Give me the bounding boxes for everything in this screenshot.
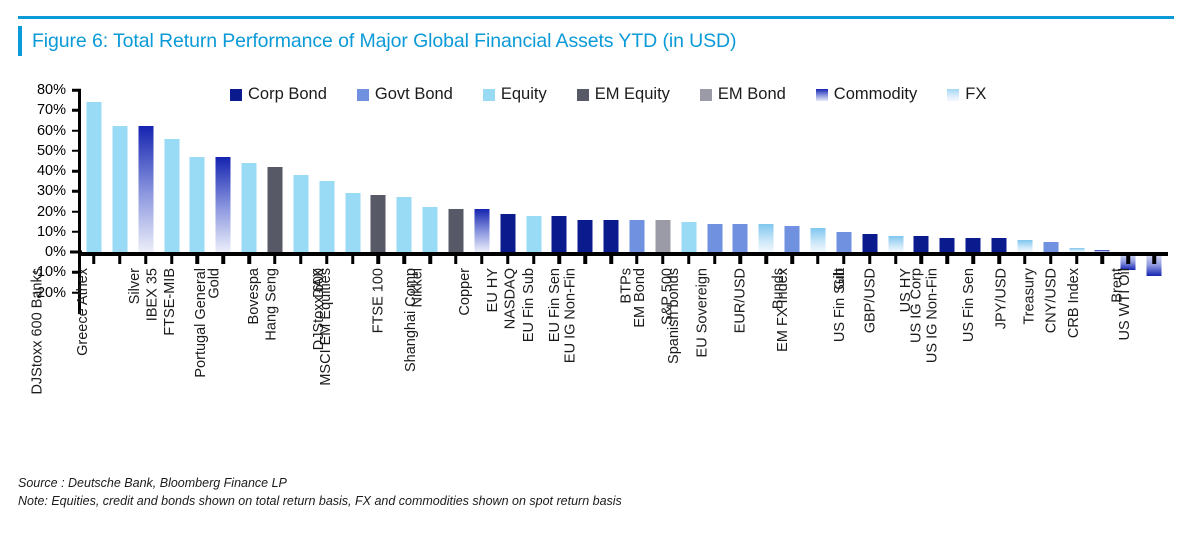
x-axis-tick-mark [170, 256, 174, 264]
x-axis-tick-mark [687, 256, 691, 264]
bar-ftse-100 [397, 197, 412, 252]
x-axis-tick-mark [713, 256, 717, 264]
legend-swatch-icon [816, 89, 828, 101]
title-accent-bar [18, 26, 22, 56]
legend-item-label: Govt Bond [375, 85, 453, 104]
x-axis-tick-mark [273, 256, 277, 264]
x-axis-category-label: IBEX 35 [145, 268, 160, 321]
legend-item-em-equity: EM Equity [577, 85, 670, 104]
legend-item-label: Commodity [834, 85, 917, 104]
x-label-slot: DJStoxx 600 [340, 268, 366, 448]
bar-eu-hy [500, 214, 515, 252]
y-axis-tick-label: 50% [37, 143, 66, 159]
x-axis-category-label: Shanghai Comp [404, 268, 419, 372]
x-axis-category-label: EM Bond [633, 268, 648, 328]
x-axis-tick-mark [532, 256, 536, 264]
x-axis-category-label: FTSE 100 [372, 268, 387, 333]
x-axis-category-label: Portugal General [194, 268, 209, 378]
bar-us-fin-sen [992, 238, 1007, 252]
x-axis-tick-mark [920, 256, 924, 264]
chart-footnotes: Source : Deutsche Bank, Bloomberg Financ… [18, 474, 1174, 510]
y-axis-tick-label: 20% [37, 204, 66, 220]
x-axis-tick-mark [790, 256, 794, 264]
x-label-slot: Gold [210, 268, 236, 448]
bar-eu-sovereign [733, 224, 748, 252]
x-axis-tick-mark [739, 256, 743, 264]
bar-us-hy [914, 236, 929, 252]
bar-nikkei [423, 207, 438, 252]
bar-gbp-usd [888, 236, 903, 252]
chart-plot-area: Corp BondGovt BondEquityEM EquityEM Bond… [18, 78, 1174, 458]
x-axis-category-label: EM FX Index [776, 268, 791, 352]
x-axis-category-label: Gold [208, 268, 223, 299]
x-axis-category-label: EU Sovereign [696, 268, 711, 357]
bar-bunds [785, 226, 800, 252]
y-axis-tick-label: 80% [37, 82, 66, 98]
x-axis-tick-mark [765, 256, 769, 264]
legend-item-commodity: Commodity [816, 85, 917, 104]
legend-swatch-icon [700, 89, 712, 101]
y-axis-tick-label: 60% [37, 123, 66, 139]
x-axis-category-label: NASDAQ [503, 268, 518, 329]
x-label-slot: US WTI Oil [1141, 268, 1167, 448]
x-axis-tick-mark [1101, 256, 1105, 264]
bar-eu-fin-sen [578, 220, 593, 252]
x-axis-zero-line [78, 252, 1168, 256]
x-axis-tick-mark [299, 256, 303, 264]
x-axis-tick-mark [402, 256, 406, 264]
legend-item-corp-bond: Corp Bond [230, 85, 327, 104]
x-axis-labels: DJStoxx 600 BanksGreece AthexSilverIBEX … [81, 268, 1167, 448]
bar-hang-seng [293, 175, 308, 252]
bar-us-ig-non-fin [966, 238, 981, 252]
bar-em-fx-index [810, 228, 825, 252]
x-axis-category-label: Silver [128, 268, 143, 304]
x-axis-tick-mark [584, 256, 588, 264]
x-axis-tick-mark [92, 256, 96, 264]
page-title: Figure 6: Total Return Performance of Ma… [32, 30, 736, 53]
x-axis-category-label: DJStoxx 600 Banks [31, 268, 46, 395]
y-axis-tick-label: 40% [37, 163, 66, 179]
x-axis-category-label: US Fin Sen [962, 268, 977, 342]
y-axis-tick-label: 0% [45, 244, 66, 260]
x-axis-category-label: CNY/USD [1044, 268, 1059, 333]
x-axis-category-label: Treasury [1022, 268, 1037, 325]
bar-djstoxx-600 [345, 193, 360, 252]
x-axis-category-label: Greece Athex [76, 268, 91, 356]
bar-jpy-usd [1017, 240, 1032, 252]
x-axis-category-label: FTSE-MIB [164, 268, 179, 336]
x-axis-tick-mark [1127, 256, 1131, 264]
x-axis-tick-mark [506, 256, 510, 264]
x-axis-tick-mark [377, 256, 381, 264]
bar-dax [319, 181, 334, 252]
legend-item-label: EM Equity [595, 85, 670, 104]
bar-gilt [836, 232, 851, 252]
x-axis-tick-mark [1152, 256, 1156, 264]
x-axis-tick-mark [842, 256, 846, 264]
bar-djstoxx-600-banks [86, 102, 101, 252]
legend-swatch-icon [230, 89, 242, 101]
x-axis-category-label: EU Fin Sub [522, 268, 537, 342]
bar-gold [216, 157, 231, 252]
bar-shanghai-comp [448, 209, 463, 252]
bar-nasdaq [526, 216, 541, 252]
x-axis-tick-mark [558, 256, 562, 264]
bar-ibex-35 [164, 139, 179, 252]
x-axis-category-label: MSCI EM Equities [320, 268, 335, 386]
x-axis-tick-mark [247, 256, 251, 264]
bar-s-p-500 [681, 222, 696, 252]
x-axis-tick-mark [894, 256, 898, 264]
x-axis-category-label: US IG Corp [910, 268, 925, 343]
x-axis-tick-mark [635, 256, 639, 264]
legend-item-em-bond: EM Bond [700, 85, 786, 104]
bar-copper [474, 209, 489, 252]
x-axis-tick-mark [221, 256, 225, 264]
x-axis-tick-mark [868, 256, 872, 264]
legend-swatch-icon [947, 89, 959, 101]
chart-legend: Corp BondGovt BondEquityEM EquityEM Bond… [230, 85, 986, 104]
x-axis-tick-mark [480, 256, 484, 264]
bar-eu-fin-sub [552, 216, 567, 252]
x-axis-category-label: EU HY [486, 268, 501, 312]
y-axis-tick-label: 10% [37, 224, 66, 240]
legend-item-fx: FX [947, 85, 986, 104]
x-axis-tick-mark [428, 256, 432, 264]
x-axis-category-label: EU Fin Sen [548, 268, 563, 342]
bar-btps [629, 220, 644, 252]
x-axis-category-label: Copper [458, 268, 473, 316]
bar-ftse-mib [190, 157, 205, 252]
bar-silver [138, 126, 153, 252]
x-axis-tick-mark [1075, 256, 1079, 264]
x-axis-category-label: EUR/USD [734, 268, 749, 333]
x-axis-tick-mark [946, 256, 950, 264]
x-axis-category-label: EU IG Non-Fin [564, 268, 579, 363]
legend-item-label: EM Bond [718, 85, 786, 104]
x-axis-tick-mark [661, 256, 665, 264]
y-axis-tick-label: 70% [37, 102, 66, 118]
title-top-rule [18, 16, 1174, 19]
bar-eu-ig-non-fin [604, 220, 619, 252]
x-axis-category-label: US WTI Oil [1118, 268, 1133, 341]
bar-us-fin-sub [862, 234, 877, 252]
legend-item-label: Equity [501, 85, 547, 104]
x-axis-category-label: GBP/USD [863, 268, 878, 333]
legend-swatch-icon [483, 89, 495, 101]
x-axis-tick-mark [325, 256, 329, 264]
x-axis-tick-mark [816, 256, 820, 264]
bar-em-bond [655, 220, 670, 252]
x-axis-tick-mark [196, 256, 200, 264]
legend-swatch-icon [357, 89, 369, 101]
x-axis-tick-mark [1049, 256, 1053, 264]
legend-item-label: FX [965, 85, 986, 104]
source-note: Source : Deutsche Bank, Bloomberg Financ… [18, 474, 1174, 492]
x-axis-category-label: CRB Index [1067, 268, 1082, 338]
bar-greece-athex [112, 126, 127, 252]
y-axis-labels: 80%70%60%50%40%30%20%10%0%-10%-20% [18, 78, 74, 328]
x-axis-tick-mark [971, 256, 975, 264]
figure-title-row: Figure 6: Total Return Performance of Ma… [18, 23, 1174, 59]
legend-item-equity: Equity [483, 85, 547, 104]
x-axis-tick-mark [1023, 256, 1027, 264]
y-axis-tick-label: 30% [37, 183, 66, 199]
x-axis-tick-mark [351, 256, 355, 264]
bar-bovespa [267, 167, 282, 252]
x-axis-tick-mark [454, 256, 458, 264]
x-axis-category-label: Hang Seng [265, 268, 280, 341]
x-axis-category-label: JPY/USD [994, 268, 1009, 329]
legend-swatch-icon [577, 89, 589, 101]
x-label-slot: EM FX Index [805, 268, 831, 448]
figure-container: Figure 6: Total Return Performance of Ma… [0, 0, 1192, 536]
legend-item-govt-bond: Govt Bond [357, 85, 453, 104]
x-label-slot: Hang Seng [288, 268, 314, 448]
x-axis-tick-mark [997, 256, 1001, 264]
bar-eur-usd [759, 224, 774, 252]
methodology-note: Note: Equities, credit and bonds shown o… [18, 492, 1174, 510]
x-label-slot: Nikkei [417, 268, 443, 448]
bar-portugal-general [242, 163, 257, 252]
bar-spanish-bonds [707, 224, 722, 252]
x-axis-category-label: US IG Non-Fin [926, 268, 941, 363]
x-axis-category-label: Spanish bonds [667, 268, 682, 364]
x-axis-category-label: US Fin Sub [833, 268, 848, 342]
x-axis-tick-mark [118, 256, 122, 264]
bar-treasury [1043, 242, 1058, 252]
x-axis-tick-mark [144, 256, 148, 264]
x-axis-category-label: Bovespa [247, 268, 262, 324]
x-axis-tick-mark [609, 256, 613, 264]
bar-us-ig-corp [940, 238, 955, 252]
bar-msci-em-equities [371, 195, 386, 252]
legend-item-label: Corp Bond [248, 85, 327, 104]
